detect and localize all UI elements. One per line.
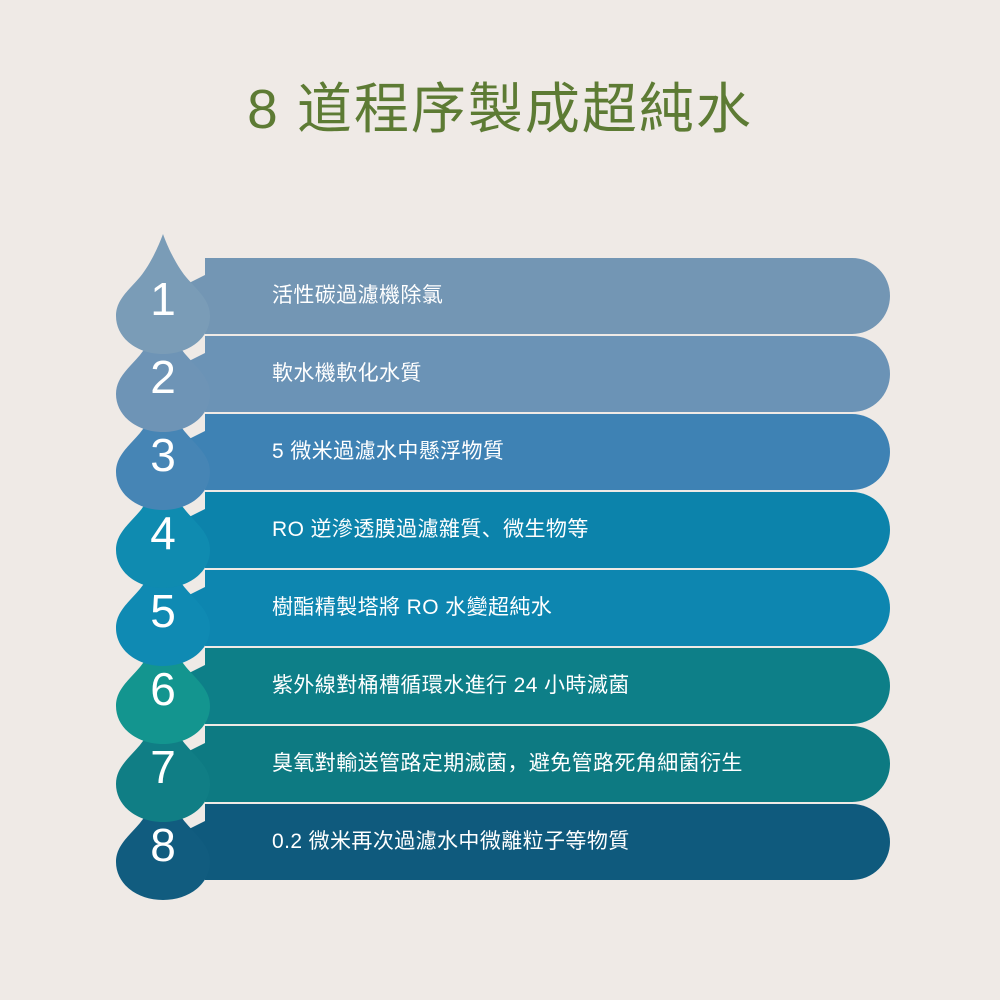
step-list: 活性碳過濾機除氯1軟水機軟化水質25 微米過濾水中懸浮物質3RO 逆滲透膜過濾雜… bbox=[0, 232, 1000, 932]
step-drop[interactable]: 1 bbox=[110, 232, 216, 356]
step-label: RO 逆滲透膜過濾雜質、微生物等 bbox=[272, 492, 589, 568]
step-label: 紫外線對桶槽循環水進行 24 小時滅菌 bbox=[272, 648, 630, 724]
step-number: 2 bbox=[110, 354, 216, 400]
step-number: 5 bbox=[110, 588, 216, 634]
step-label: 活性碳過濾機除氯 bbox=[272, 258, 443, 334]
step-row: 活性碳過濾機除氯1 bbox=[0, 232, 1000, 310]
step-bar[interactable]: 0.2 微米再次過濾水中微離粒子等物質 bbox=[205, 804, 890, 880]
title-block: 8 道程序製成超純水 bbox=[0, 78, 1000, 141]
step-bar[interactable]: RO 逆滲透膜過濾雜質、微生物等 bbox=[205, 492, 890, 568]
step-bar[interactable]: 臭氧對輸送管路定期滅菌，避免管路死角細菌衍生 bbox=[205, 726, 890, 802]
step-number: 3 bbox=[110, 432, 216, 478]
step-label: 樹酯精製塔將 RO 水變超純水 bbox=[272, 570, 552, 646]
step-number: 8 bbox=[110, 822, 216, 868]
infographic-canvas: 8 道程序製成超純水 活性碳過濾機除氯1軟水機軟化水質25 微米過濾水中懸浮物質… bbox=[0, 0, 1000, 1000]
step-bar[interactable]: 軟水機軟化水質 bbox=[205, 336, 890, 412]
step-bar[interactable]: 紫外線對桶槽循環水進行 24 小時滅菌 bbox=[205, 648, 890, 724]
page-title: 8 道程序製成超純水 bbox=[0, 78, 1000, 141]
step-number: 7 bbox=[110, 744, 216, 790]
step-bar[interactable]: 5 微米過濾水中懸浮物質 bbox=[205, 414, 890, 490]
step-label: 臭氧對輸送管路定期滅菌，避免管路死角細菌衍生 bbox=[272, 726, 743, 802]
step-bar[interactable]: 活性碳過濾機除氯 bbox=[205, 258, 890, 334]
step-number: 4 bbox=[110, 510, 216, 556]
step-number: 1 bbox=[110, 276, 216, 322]
step-label: 軟水機軟化水質 bbox=[272, 336, 422, 412]
step-label: 0.2 微米再次過濾水中微離粒子等物質 bbox=[272, 804, 630, 880]
step-bar[interactable]: 樹酯精製塔將 RO 水變超純水 bbox=[205, 570, 890, 646]
step-label: 5 微米過濾水中懸浮物質 bbox=[272, 414, 504, 490]
step-number: 6 bbox=[110, 666, 216, 712]
